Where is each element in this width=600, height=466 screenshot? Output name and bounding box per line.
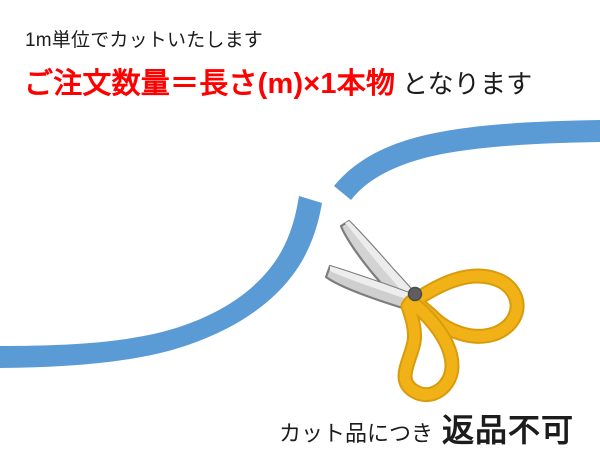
order-quantity-text: ご注文数量＝長さ(m)×1本物となります xyxy=(24,70,532,99)
cable-left-path xyxy=(0,196,322,368)
scissors-pivot-icon xyxy=(409,288,422,301)
notice-image: 1m単位でカットいたします ご注文数量＝長さ(m)×1本物となります カット品に… xyxy=(0,0,600,466)
no-return-prefix: カット品につき xyxy=(279,421,433,446)
order-quantity-suffix: となります xyxy=(402,69,532,99)
cable-right-path xyxy=(334,120,600,200)
blue-cable-left-segment xyxy=(0,196,322,368)
no-return-emphasis: 返品不可 xyxy=(442,412,574,448)
order-quantity-formula: ご注文数量＝長さ(m)×1本物 xyxy=(24,68,395,100)
blue-cable-right-segment xyxy=(334,120,600,200)
cut-unit-text: 1m単位でカットいたします xyxy=(25,31,263,50)
scissors-icon xyxy=(326,221,517,395)
no-return-notice: カット品につき返品不可 xyxy=(279,414,574,446)
